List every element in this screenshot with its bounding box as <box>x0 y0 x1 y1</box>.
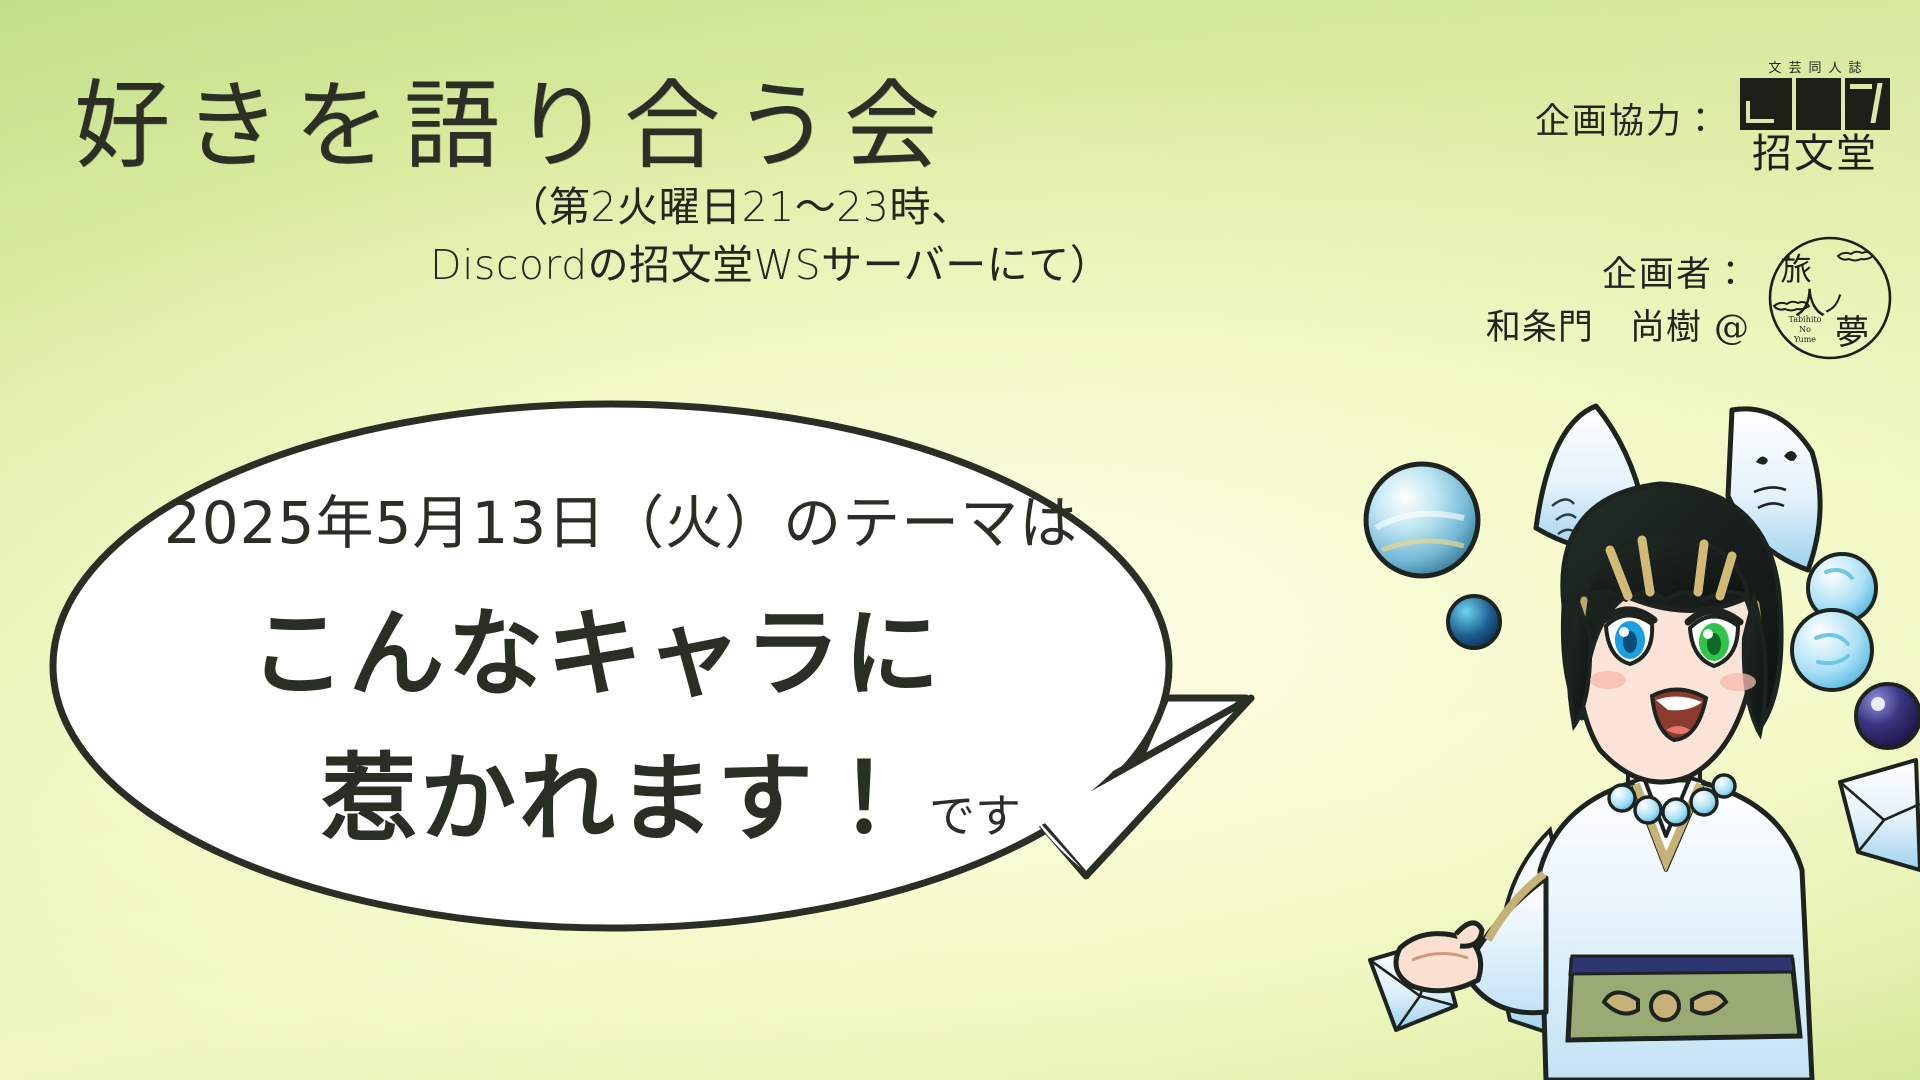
shelf-block-left <box>1740 78 1792 130</box>
svg-text:夢: 夢 <box>1835 313 1869 353</box>
theme-line-2-wrap: 惹かれます！です <box>166 721 1176 860</box>
organizer-label: 企画者： <box>1602 246 1750 297</box>
shobundo-tagline: 文芸同人誌 <box>1768 62 1868 75</box>
theme-date-line: 2025年5月13日（火）のテーマは <box>66 476 1176 560</box>
tabihito-no-yume-seal-icon: 旅 人 ノ 夢 Tabihito No Yume <box>1766 234 1894 362</box>
page-title: 好きを語り合う会 <box>74 48 954 187</box>
subtitle-line-2: Discordの招文堂WSサーバーにて） <box>430 236 1050 294</box>
seal-romaji-1: Tabihito <box>1789 315 1822 324</box>
fox-ear-left <box>1536 406 1650 552</box>
bead-necklace <box>1609 775 1735 825</box>
theme-line-1: こんなキャラに <box>16 576 1176 715</box>
shobundo-shelf-icon <box>1740 78 1890 130</box>
organizer-text-stack: 企画者： 和条門 尚樹 @ <box>1486 246 1750 350</box>
speech-bubble: 2025年5月13日（火）のテーマは こんなキャラに 惹かれます！です <box>46 398 1426 998</box>
credits-block: 企画協力： 文芸同人誌 招文堂 企画者： 和条門 尚樹 @ <box>1334 62 1894 362</box>
subtitle-block: （第2火曜日21〜23時、 Discordの招文堂WSサーバーにて） <box>430 178 1050 294</box>
speech-bubble-text: 2025年5月13日（火）のテーマは こんなキャラに 惹かれます！です <box>46 398 1176 938</box>
floating-orb-dark <box>1856 684 1920 748</box>
sash-knot <box>1604 992 1726 1020</box>
eye-right <box>1688 611 1740 666</box>
character-head <box>1563 484 1781 782</box>
crystal-shard-right <box>1840 760 1920 870</box>
poster-canvas: 好きを語り合う会 （第2火曜日21〜23時、 Discordの招文堂WSサーバー… <box>0 0 1920 1080</box>
shobundo-logo: 文芸同人誌 招文堂 <box>1736 62 1894 174</box>
theme-suffix: です <box>929 789 1021 843</box>
credit-row-cooperation: 企画協力： 文芸同人誌 招文堂 <box>1334 62 1894 174</box>
subtitle-line-1: （第2火曜日21〜23時、 <box>430 178 1050 236</box>
cooperation-label: 企画協力： <box>1535 93 1720 144</box>
shelf-block-right <box>1845 78 1890 130</box>
eye-left <box>1604 610 1654 664</box>
seal-romaji-3: Yume <box>1793 335 1816 344</box>
svg-text:旅: 旅 <box>1781 252 1812 288</box>
fox-ear-right <box>1728 409 1820 570</box>
seal-romaji-2: No <box>1799 325 1811 334</box>
character-illustration <box>1360 400 1920 1080</box>
organizer-name: 和条門 尚樹 @ <box>1486 299 1750 350</box>
credit-row-organizer: 企画者： 和条門 尚樹 @ 旅 人 ノ 夢 <box>1334 234 1894 362</box>
floating-orb-small <box>1448 596 1500 648</box>
kimono <box>1540 778 1812 1080</box>
shelf-block-mid <box>1796 78 1840 130</box>
theme-line-2: 惹かれます！ <box>321 743 915 855</box>
shobundo-name: 招文堂 <box>1752 134 1878 174</box>
hair-crystal-cluster <box>1792 554 1876 690</box>
